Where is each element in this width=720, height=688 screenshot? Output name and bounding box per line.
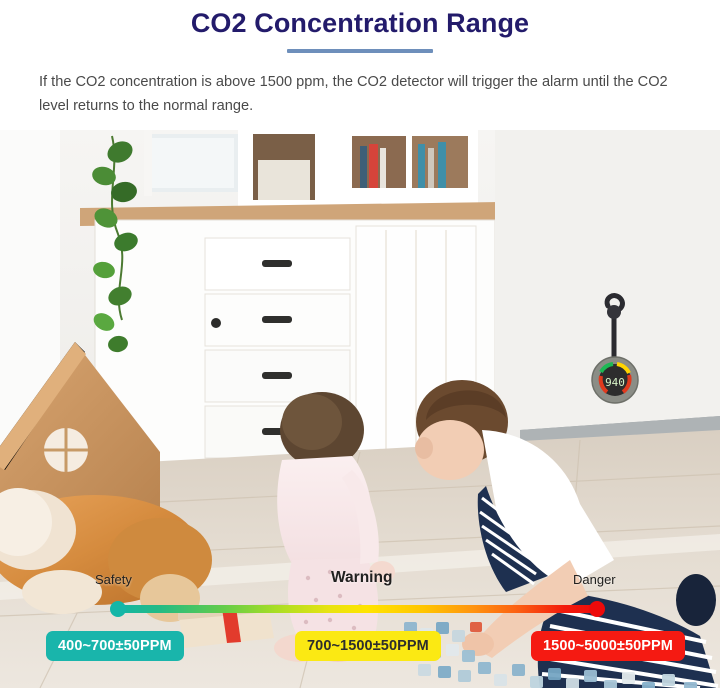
co2-concentration-range-page: CO2 Concentration Range If the CO2 conce… (0, 0, 720, 688)
range-badge-warning: 700~1500±50PPM (295, 631, 441, 661)
gradient-bar-start-dot (110, 601, 126, 617)
subtitle-text: If the CO2 concentration is above 1500 p… (36, 70, 684, 118)
gradient-bar-track (117, 605, 598, 613)
scale-label-safety: Safety (95, 572, 132, 587)
scale-label-danger: Danger (573, 572, 616, 587)
gradient-bar-end-dot (589, 601, 605, 617)
gradient-bar (110, 600, 605, 618)
title-divider (287, 49, 433, 53)
range-badge-safety: 400~700±50PPM (46, 631, 184, 661)
page-title: CO2 Concentration Range (0, 6, 720, 40)
range-badge-danger: 1500~5000±50PPM (531, 631, 685, 661)
scale-label-warning: Warning (331, 569, 392, 587)
svg-text:940: 940 (605, 376, 625, 389)
header: CO2 Concentration Range If the CO2 conce… (0, 0, 720, 130)
